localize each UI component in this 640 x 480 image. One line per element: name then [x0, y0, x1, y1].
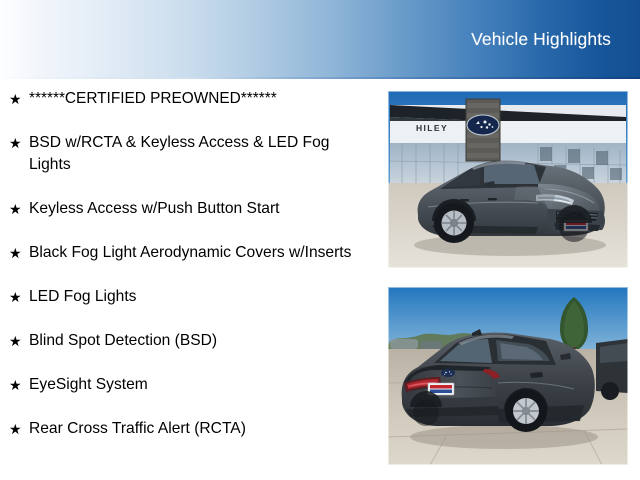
page-title: Vehicle Highlights: [471, 29, 611, 50]
list-item: ★ ******CERTIFIED PREOWNED******: [8, 88, 374, 110]
list-item: ★ Keyless Access w/Push Button Start: [8, 198, 374, 220]
vehicle-photo-front-image: HILEY SUBARU: [388, 91, 628, 268]
list-item: ★ BSD w/RCTA & Keyless Access & LED Fog …: [8, 132, 374, 176]
vehicle-highlights-list: ★ ******CERTIFIED PREOWNED****** ★ BSD w…: [8, 88, 374, 440]
list-item: ★ LED Fog Lights: [8, 286, 374, 308]
list-item-label: ******CERTIFIED PREOWNED******: [29, 88, 374, 110]
star-bullet-icon: ★: [9, 242, 23, 264]
list-item: ★ EyeSight System: [8, 374, 374, 396]
list-item-label: EyeSight System: [29, 374, 374, 396]
header-underline-divider: [0, 77, 640, 79]
list-item-label: BSD w/RCTA & Keyless Access & LED Fog Li…: [29, 132, 374, 176]
list-item: ★ Blind Spot Detection (BSD): [8, 330, 374, 352]
star-bullet-icon: ★: [9, 198, 23, 220]
star-bullet-icon: ★: [9, 132, 23, 154]
list-item: ★ Black Fog Light Aerodynamic Covers w/I…: [8, 242, 374, 264]
svg-text:SUBARU: SUBARU: [520, 135, 568, 145]
star-bullet-icon: ★: [9, 374, 23, 396]
vehicle-photo-rear[interactable]: [388, 287, 628, 465]
star-bullet-icon: ★: [9, 330, 23, 352]
list-item-label: LED Fog Lights: [29, 286, 374, 308]
vehicle-photo-rear-image: [388, 287, 628, 465]
vehicle-photo-front[interactable]: HILEY SUBARU: [388, 91, 628, 268]
star-bullet-icon: ★: [9, 286, 23, 308]
list-item-label: Blind Spot Detection (BSD): [29, 330, 374, 352]
star-bullet-icon: ★: [9, 418, 23, 440]
star-bullet-icon: ★: [9, 88, 23, 110]
svg-text:HILEY: HILEY: [416, 123, 448, 133]
list-item: ★ Rear Cross Traffic Alert (RCTA): [8, 418, 374, 440]
list-item-label: Rear Cross Traffic Alert (RCTA): [29, 418, 374, 440]
list-item-label: Keyless Access w/Push Button Start: [29, 198, 374, 220]
list-item-label: Black Fog Light Aerodynamic Covers w/Ins…: [29, 242, 374, 264]
